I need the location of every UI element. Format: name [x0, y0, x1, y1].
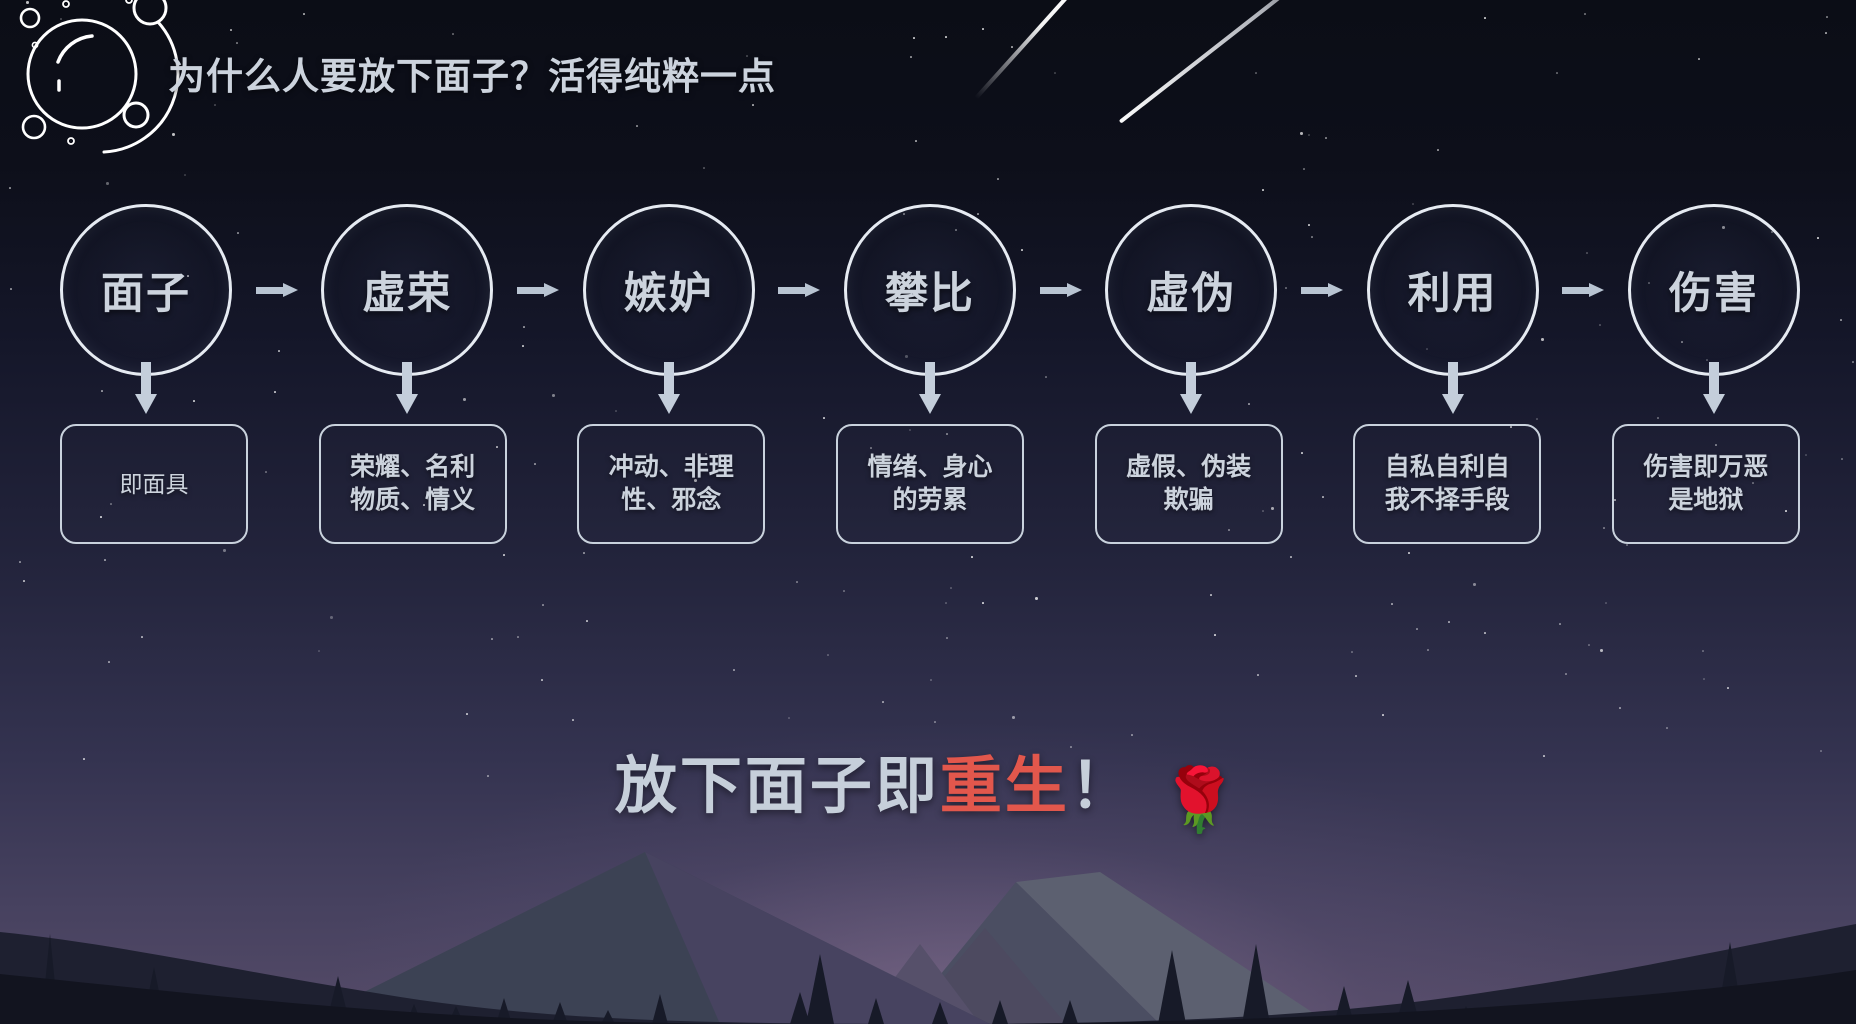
- shooting-star-icon: [975, 0, 1078, 99]
- detail-box-xuwei[interactable]: 虚假、伪装 欺骗: [1095, 424, 1283, 544]
- star-dot: [1484, 17, 1486, 19]
- drop-arrow-slot: [60, 362, 232, 420]
- star-dot: [1565, 673, 1567, 675]
- flow-circle-mianzi[interactable]: 面子: [60, 204, 232, 376]
- star-dot: [10, 288, 12, 290]
- star-dot: [9, 187, 11, 189]
- star-dot: [1416, 628, 1418, 630]
- star-dot: [108, 661, 110, 663]
- arrow-right-icon: [778, 283, 820, 297]
- star-dot: [517, 636, 519, 638]
- star-dot: [303, 13, 305, 15]
- star-dot: [733, 669, 735, 671]
- arrow-right-icon: [256, 283, 298, 297]
- star-dot: [1666, 727, 1668, 729]
- star-dot: [1257, 674, 1259, 676]
- drop-arrow-slot: [1367, 362, 1539, 420]
- star-dot: [19, 561, 21, 563]
- drop-arrow-slot: [321, 362, 493, 420]
- star-dot: [1484, 632, 1486, 634]
- star-dot: [788, 717, 790, 719]
- star-dot: [1852, 361, 1854, 363]
- flow-circle-label: 利用: [1408, 259, 1498, 321]
- detail-box-mianzi[interactable]: 即面具: [60, 424, 248, 544]
- star-dot: [1825, 32, 1827, 34]
- star-dot: [1355, 675, 1357, 677]
- star-dot: [184, 174, 186, 176]
- arrow-down-icon: [658, 362, 680, 414]
- star-dot: [946, 637, 948, 639]
- flow-node: 虚伪: [1105, 204, 1277, 376]
- arrow-right-icon: [1562, 283, 1604, 297]
- star-dot: [1600, 649, 1603, 652]
- planet-circles-icon: [0, 0, 190, 159]
- star-dot: [636, 125, 638, 127]
- detail-box-text: 即面具: [120, 469, 189, 499]
- detail-box-panbi[interactable]: 情绪、身心 的劳累: [836, 424, 1024, 544]
- star-dot: [1437, 149, 1439, 151]
- drop-arrow-slot: [844, 362, 1016, 420]
- flow-node: 利用: [1367, 204, 1539, 376]
- star-dot: [141, 636, 143, 638]
- detail-box-text: 荣耀、名利 物质、情义: [350, 451, 475, 517]
- star-dot: [572, 719, 574, 721]
- star-dot: [1290, 556, 1292, 558]
- star-dot: [1210, 594, 1212, 596]
- star-dot: [1841, 458, 1843, 460]
- star-dot: [223, 549, 226, 552]
- flow-circle-label: 攀比: [885, 259, 975, 321]
- arrow-down-icon: [135, 362, 157, 414]
- star-dot: [106, 182, 109, 185]
- star-dot: [452, 33, 454, 35]
- star-dot: [1473, 583, 1476, 586]
- flow-circle-xuwei[interactable]: 虚伪: [1105, 204, 1277, 376]
- star-dot: [1448, 621, 1450, 623]
- detail-box-text: 自私自利自 我不择手段: [1385, 451, 1510, 517]
- star-dot: [982, 28, 984, 30]
- flow-circle-liyong[interactable]: 利用: [1367, 204, 1539, 376]
- star-dot: [1214, 634, 1216, 636]
- star-dot: [503, 554, 505, 556]
- star-dot: [542, 604, 544, 606]
- star-dot: [541, 679, 543, 681]
- star-dot: [1035, 597, 1038, 600]
- detail-box-row: 即面具 荣耀、名利 物质、情义 冲动、非理 性、邪念 情绪、身心 的劳累 虚假、…: [60, 424, 1800, 544]
- flow-circle-panbi[interactable]: 攀比: [844, 204, 1016, 376]
- flow-circle-shanghai[interactable]: 伤害: [1628, 204, 1800, 376]
- star-dot: [1255, 72, 1257, 74]
- star-dot: [827, 654, 829, 656]
- star-dot: [1584, 13, 1586, 15]
- star-dot: [950, 587, 952, 589]
- arrow-down-icon: [1180, 362, 1202, 414]
- star-dot: [1605, 602, 1607, 604]
- star-dot: [1805, 454, 1807, 456]
- star-dot: [752, 104, 754, 106]
- star-dot: [1351, 651, 1353, 653]
- star-dot: [1325, 137, 1327, 139]
- flow-circle-row: 面子 虚荣 嫉妒 攀比 虚伪: [60, 204, 1800, 376]
- detail-box-liyong[interactable]: 自私自利自 我不择手段: [1353, 424, 1541, 544]
- flow-circle-label: 嫉妒: [624, 259, 714, 321]
- star-dot: [703, 167, 705, 169]
- star-dot: [945, 36, 947, 38]
- flow-node: 伤害: [1628, 204, 1800, 376]
- star-dot: [1817, 237, 1819, 239]
- detail-box-shanghai[interactable]: 伤害即万恶 是地狱: [1612, 424, 1800, 544]
- star-dot: [330, 616, 333, 619]
- star-dot: [910, 56, 912, 58]
- star-dot: [1626, 544, 1628, 546]
- star-dot: [1826, 16, 1828, 18]
- star-dot: [1427, 649, 1429, 651]
- flow-node: 面子: [60, 204, 232, 376]
- slogan-highlight: 重生: [940, 752, 1070, 821]
- arrow-down-icon: [396, 362, 418, 414]
- drop-arrow-slot: [583, 362, 755, 420]
- star-dot: [1262, 189, 1264, 191]
- arrow-down-icon: [1703, 362, 1725, 414]
- star-dot: [997, 178, 999, 180]
- star-dot: [1012, 716, 1015, 719]
- star-dot: [230, 29, 232, 31]
- flow-circle-jidu[interactable]: 嫉妒: [583, 204, 755, 376]
- flow-node: 虚荣: [321, 204, 493, 376]
- arrow-down-icon: [1442, 362, 1464, 414]
- star-dot: [318, 650, 320, 652]
- flow-circle-xurong[interactable]: 虚荣: [321, 204, 493, 376]
- slide-canvas: 为什么人要放下面子？活得纯粹一点 面子 虚荣 嫉妒 攀比: [0, 0, 1856, 1024]
- arrow-right-icon: [1301, 283, 1343, 297]
- flow-circle-label: 虚荣: [362, 259, 452, 321]
- star-dot: [982, 602, 984, 604]
- star-dot: [1054, 72, 1056, 74]
- star-dot: [1702, 650, 1704, 652]
- page-title: 为什么人要放下面子？活得纯粹一点: [168, 46, 776, 100]
- star-dot: [971, 556, 973, 558]
- star-dot: [1011, 46, 1013, 48]
- star-dot: [843, 590, 845, 592]
- star-dot: [214, 104, 216, 106]
- star-dot: [930, 679, 932, 681]
- arrow-right-icon: [517, 283, 559, 297]
- star-dot: [1588, 644, 1590, 646]
- shooting-star-icon: [1119, 0, 1382, 124]
- flow-circle-label: 伤害: [1669, 259, 1759, 321]
- slogan-part-one: 放下面子即: [615, 752, 940, 821]
- star-dot: [1391, 603, 1393, 605]
- star-dot: [796, 581, 798, 583]
- drop-arrow-slot: [1105, 362, 1277, 420]
- star-dot: [586, 620, 588, 622]
- star-dot: [1303, 168, 1305, 170]
- star-dot: [882, 701, 884, 703]
- slogan: 放下面子即重生！🌹: [0, 735, 1856, 837]
- detail-box-text: 伤害即万恶 是地狱: [1643, 451, 1768, 517]
- detail-box-text: 虚假、伪装 欺骗: [1126, 451, 1251, 517]
- detail-box-xurong[interactable]: 荣耀、名利 物质、情义: [319, 424, 507, 544]
- drop-arrow-row: [60, 362, 1800, 420]
- flow-node: 攀比: [844, 204, 1016, 376]
- drop-arrow-slot: [1628, 362, 1800, 420]
- star-dot: [236, 42, 238, 44]
- star-dot: [915, 140, 917, 142]
- star-dot: [1308, 134, 1310, 136]
- flow-circle-label: 面子: [101, 259, 191, 321]
- star-dot: [1840, 319, 1842, 321]
- star-dot: [1408, 552, 1410, 554]
- star-dot: [1382, 714, 1384, 716]
- star-dot: [913, 37, 915, 39]
- mountain-range-icon: [0, 824, 1856, 1024]
- star-dot: [466, 713, 468, 715]
- star-dot: [1300, 132, 1303, 135]
- flow-node: 嫉妒: [583, 204, 755, 376]
- star-dot: [491, 638, 493, 640]
- star-dot: [23, 580, 25, 582]
- detail-box-text: 情绪、身心 的劳累: [867, 451, 992, 517]
- detail-box-text: 冲动、非理 性、邪念: [609, 451, 734, 517]
- star-dot: [1698, 58, 1700, 60]
- slogan-part-three: ！: [1070, 752, 1135, 821]
- star-dot: [583, 552, 585, 554]
- star-dot: [1559, 623, 1561, 625]
- star-dot: [104, 559, 106, 561]
- star-dot: [945, 602, 947, 604]
- detail-box-jidu[interactable]: 冲动、非理 性、邪念: [577, 424, 765, 544]
- flow-circle-label: 虚伪: [1146, 259, 1236, 321]
- star-dot: [1556, 72, 1558, 74]
- star-dot: [1703, 678, 1705, 680]
- star-dot: [1619, 707, 1621, 709]
- star-dot: [1727, 687, 1729, 689]
- star-dot: [934, 721, 936, 723]
- arrow-right-icon: [1040, 283, 1082, 297]
- arrow-down-icon: [919, 362, 941, 414]
